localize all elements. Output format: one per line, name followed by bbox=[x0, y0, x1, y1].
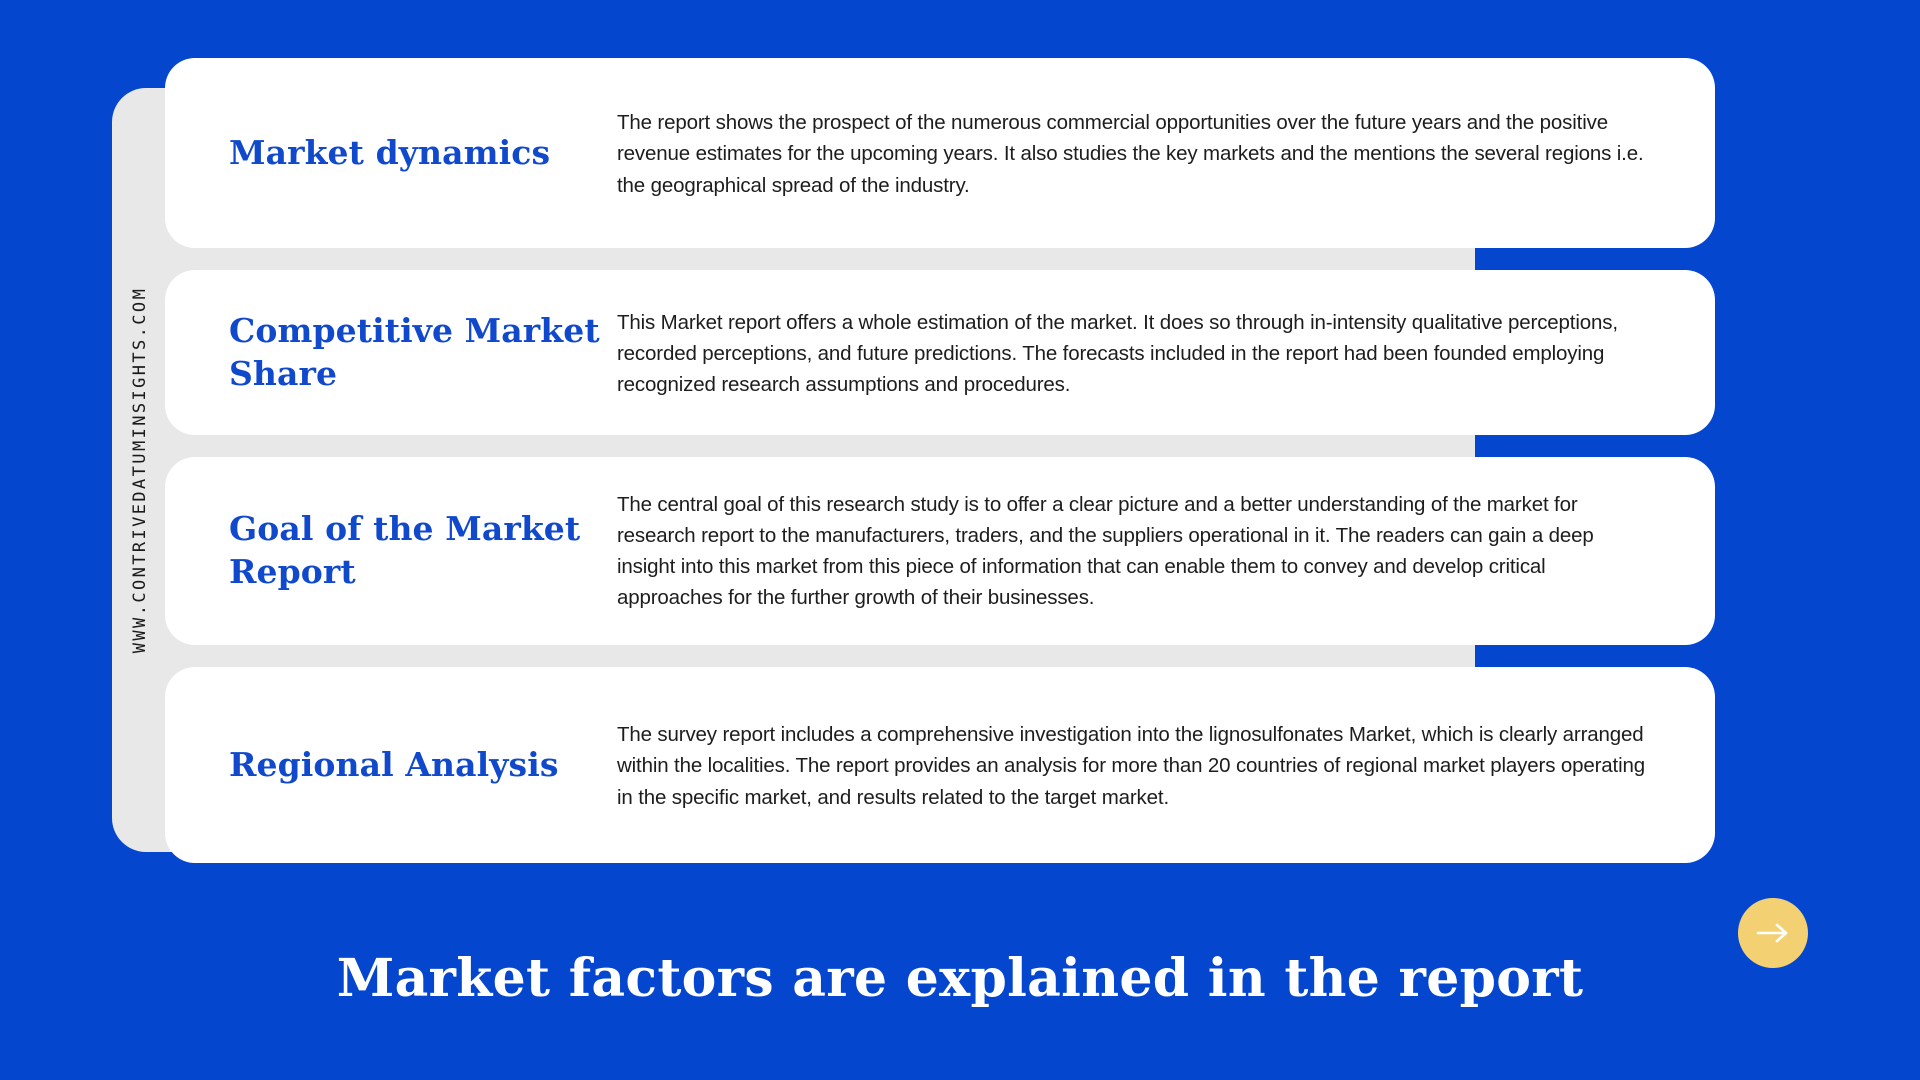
arrow-right-icon bbox=[1756, 923, 1790, 943]
card-heading: Regional Analysis bbox=[165, 744, 617, 787]
card-stack: Market dynamics The report shows the pro… bbox=[165, 58, 1715, 863]
card-heading: Market dynamics bbox=[165, 132, 617, 175]
card-body: The central goal of this research study … bbox=[617, 489, 1715, 614]
watermark-text: WWW.CONTRIVEDATUMINSIGHTS.COM bbox=[130, 287, 150, 653]
page-title: Market factors are explained in the repo… bbox=[0, 948, 1920, 1009]
card-body: The survey report includes a comprehensi… bbox=[617, 717, 1715, 812]
next-button[interactable] bbox=[1738, 898, 1808, 968]
info-card[interactable]: Competitive Market Share This Market rep… bbox=[165, 270, 1715, 435]
info-card[interactable]: Goal of the Market Report The central go… bbox=[165, 457, 1715, 645]
card-heading: Competitive Market Share bbox=[165, 310, 617, 396]
card-body: This Market report offers a whole estima… bbox=[617, 305, 1715, 400]
card-heading: Goal of the Market Report bbox=[165, 508, 617, 594]
info-card[interactable]: Regional Analysis The survey report incl… bbox=[165, 667, 1715, 863]
card-body: The report shows the prospect of the num… bbox=[617, 105, 1715, 200]
watermark-label: WWW.CONTRIVEDATUMINSIGHTS.COM bbox=[112, 88, 168, 852]
info-card[interactable]: Market dynamics The report shows the pro… bbox=[165, 58, 1715, 248]
